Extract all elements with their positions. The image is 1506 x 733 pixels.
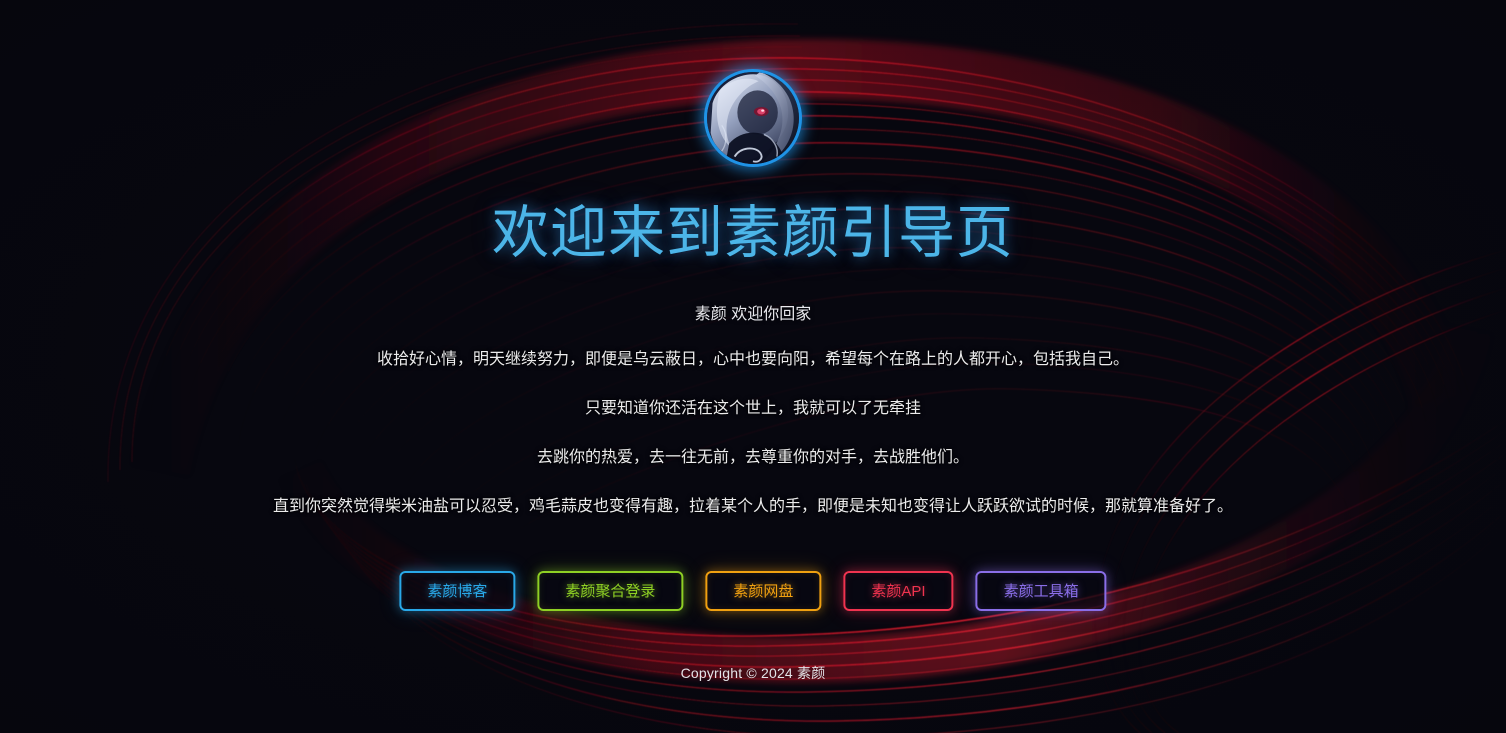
greeting-text: 素颜 欢迎你回家 xyxy=(0,304,1506,326)
quote-line: 去跳你的热爱，去一往无前，去尊重你的对手，去战胜他们。 xyxy=(0,450,1506,466)
quote-line: 只要知道你还活在这个世上，我就可以了无牵挂 xyxy=(0,401,1506,417)
nav-button-netdisk[interactable]: 素颜网盘 xyxy=(705,571,821,611)
avatar-ring xyxy=(704,69,802,167)
page-title: 欢迎来到素颜引导页 xyxy=(0,205,1506,262)
nav-button-blog[interactable]: 素颜博客 xyxy=(399,571,515,611)
avatar-image xyxy=(707,72,799,164)
avatar[interactable] xyxy=(704,69,802,167)
nav-button-sso[interactable]: 素颜聚合登录 xyxy=(537,571,683,611)
quote-line: 收拾好心情，明天继续努力，即便是乌云蔽日，心中也要向阳，希望每个在路上的人都开心… xyxy=(0,352,1506,368)
nav-button-row: 素颜博客 素颜聚合登录 素颜网盘 素颜API 素颜工具箱 xyxy=(399,571,1106,611)
quote-block: 收拾好心情，明天继续努力，即便是乌云蔽日，心中也要向阳，希望每个在路上的人都开心… xyxy=(0,352,1506,548)
landing-page: 欢迎来到素颜引导页 素颜 欢迎你回家 收拾好心情，明天继续努力，即便是乌云蔽日，… xyxy=(0,0,1506,733)
quote-line: 直到你突然觉得柴米油盐可以忍受，鸡毛蒜皮也变得有趣，拉着某个人的手，即便是未知也… xyxy=(0,499,1506,515)
nav-button-api[interactable]: 素颜API xyxy=(843,571,953,611)
nav-button-toolbox[interactable]: 素颜工具箱 xyxy=(976,571,1107,611)
footer-copyright: Copyright © 2024 素颜 xyxy=(0,663,1506,683)
